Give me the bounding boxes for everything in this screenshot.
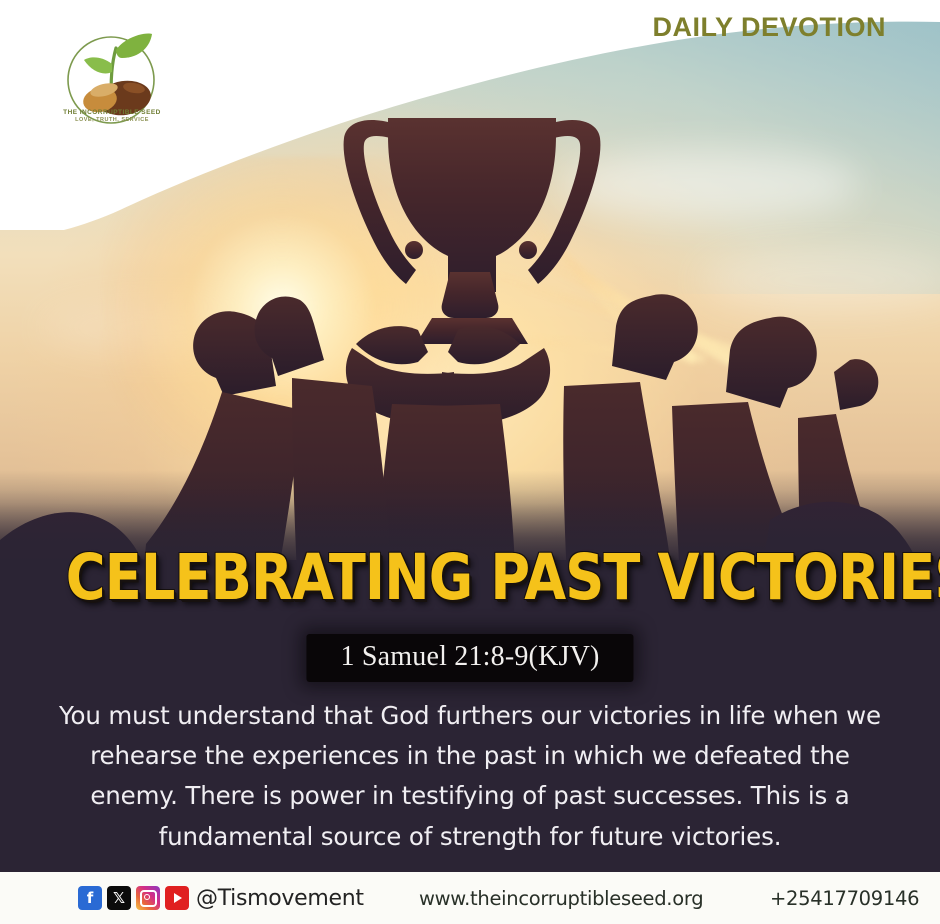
scripture-reference-text: 1 Samuel 21:8-9(KJV)	[340, 641, 599, 672]
youtube-icon[interactable]	[165, 886, 189, 910]
footer-bar: f 𝕏 @Tismovement www.theincorruptiblesee…	[0, 872, 940, 924]
brand-name: THE INCORRUPTIBLE SEED	[40, 108, 184, 117]
x-twitter-icon[interactable]: 𝕏	[107, 886, 131, 910]
brand-tagline: LOVE, TRUTH, SERVICE	[40, 117, 184, 125]
social-links: f 𝕏	[78, 886, 189, 910]
phone-number[interactable]: +25417709146	[770, 887, 919, 910]
devotional-poster: DAILY DEVOTION THE INCORRUPTIBLE SEED LO…	[0, 0, 940, 924]
website-url[interactable]: www.theincorruptibleseed.org	[419, 887, 703, 910]
scripture-reference-badge: 1 Samuel 21:8-9(KJV)	[306, 634, 633, 682]
devotion-body: You must understand that God furthers ou…	[49, 696, 891, 857]
social-handle[interactable]: @Tismovement	[196, 886, 364, 911]
page-title: DAILY DEVOTION	[652, 12, 886, 43]
facebook-icon[interactable]: f	[78, 886, 102, 910]
devotion-title: CELEBRATING PAST VICTORIES	[66, 546, 874, 609]
brand-logo-caption: THE INCORRUPTIBLE SEED LOVE, TRUTH, SERV…	[40, 108, 184, 125]
instagram-icon[interactable]	[136, 886, 160, 910]
